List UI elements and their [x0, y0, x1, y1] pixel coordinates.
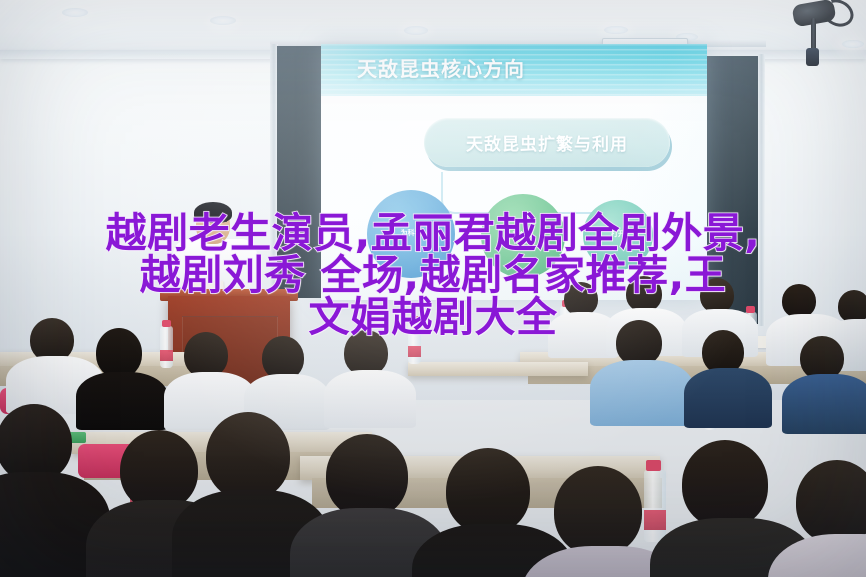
ceiling-light: [604, 26, 628, 34]
desk-row-middle-2: [408, 362, 588, 376]
ceiling-light: [62, 8, 88, 17]
blackboard-left-panel: [277, 46, 321, 298]
screenshot-root: 天敌昆虫核心方向 为科学 科普美 打开 天敌昆虫扩繁与利用: [0, 0, 866, 577]
slide-pill-label: 天敌昆虫扩繁与利用: [424, 118, 670, 167]
lecture-hall-photo: 天敌昆虫核心方向 为科学 科普美 打开 天敌昆虫扩繁与利用: [0, 0, 866, 577]
slide-body: 为科学 科普美 打开 天敌昆虫扩繁与利用: [321, 96, 707, 300]
ceiling-light: [210, 16, 236, 25]
speaker-hair: [194, 202, 232, 223]
slide-circle-1: 为科学: [367, 190, 455, 278]
board-frame-right: [758, 54, 765, 326]
speaker-glasses-icon: [199, 221, 227, 228]
slide-pill-shape: 天敌昆虫扩繁与利用: [424, 118, 670, 167]
slide-circle-3: 打开: [583, 200, 653, 270]
slide-circle-2: 科普美: [481, 194, 565, 278]
ceiling-light: [842, 40, 864, 48]
ceiling-camera-arm: [811, 18, 816, 52]
ceiling-light: [404, 26, 428, 35]
water-bottle: [160, 326, 173, 368]
water-bottle: [408, 322, 421, 364]
ceiling-camera-lens: [806, 48, 819, 66]
projection-screen: 天敌昆虫核心方向 为科学 科普美 打开 天敌昆虫扩繁与利用: [321, 44, 707, 300]
water-bottle: [644, 470, 666, 542]
slide-title: 天敌昆虫核心方向: [357, 53, 525, 82]
